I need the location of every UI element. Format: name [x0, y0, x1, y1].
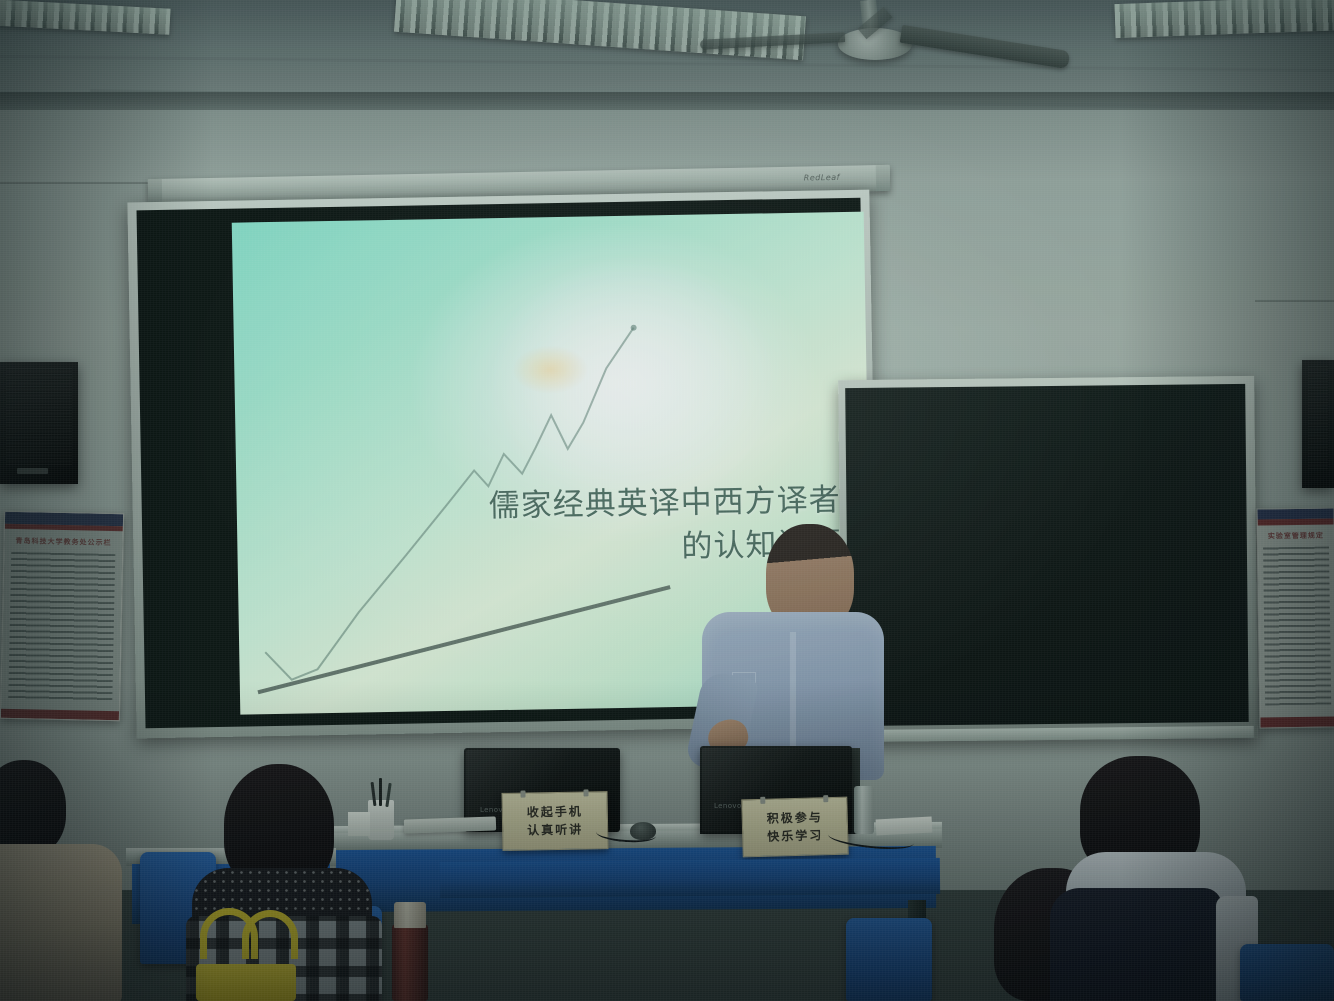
sign-line-1: 积极参与: [767, 808, 823, 827]
yellow-handbag: [196, 908, 300, 1001]
sign-clip-right: [583, 789, 588, 796]
wall-poster-right: 实验室管理规定: [1256, 507, 1334, 728]
thermos-cap: [394, 902, 426, 928]
student-chair-far-right: [1240, 944, 1334, 1001]
audience-head: [0, 760, 66, 856]
speaker-grille: [6, 368, 72, 466]
classroom-photo: RedLeaf 儒家经典英译中西方译者 的认知问题 李玉良 青岛科技大学教务处公…: [0, 0, 1334, 1001]
speaker-brand-plate: [17, 468, 48, 474]
poster-shadow: [1257, 508, 1334, 727]
sign-line-2: 认真听讲: [527, 821, 583, 840]
wall-poster-left: 青岛科技大学教务处公示栏: [0, 511, 124, 721]
bag-handle-right: [242, 910, 298, 959]
audience-vest: [1050, 888, 1222, 1001]
sign-put-away-phones: 收起手机 认真听讲: [502, 791, 609, 851]
wall-speaker-right: [1302, 360, 1334, 488]
presenter: [694, 524, 894, 774]
sign-line-2: 快乐学习: [767, 826, 823, 845]
sign-clip-left: [760, 797, 765, 804]
sign-line-1: 收起手机: [527, 803, 583, 822]
student-desk-panel-front: [440, 858, 940, 898]
audience-body: [0, 844, 122, 1001]
thermos-bottle: [392, 924, 428, 1001]
audience-member-white-shirt: [1040, 756, 1260, 1001]
wall-seam-upper: [0, 182, 160, 184]
sign-participate-actively: 积极参与 快乐学习: [741, 797, 848, 858]
desk-tumbler: [854, 786, 874, 834]
wall-seam-right: [1255, 300, 1334, 302]
sign-clip-right: [823, 795, 828, 802]
bag-body: [196, 964, 296, 1001]
blackboard-frame: [838, 376, 1258, 742]
poster-shadow: [1, 512, 123, 720]
housing-brand-label: RedLeaf: [804, 173, 840, 183]
blackboard-surface: [845, 384, 1249, 726]
sign-clip-left: [520, 791, 525, 798]
speaker-grille: [1308, 366, 1328, 470]
monitor-brand-label: Lenovo: [714, 802, 742, 810]
wall-speaker-left: [0, 362, 78, 484]
housing-end-right: [876, 165, 890, 191]
desk-paper-right: [876, 817, 933, 836]
student-chair-right: [846, 918, 932, 1001]
audience-member-beige-jacket: [0, 760, 126, 1001]
